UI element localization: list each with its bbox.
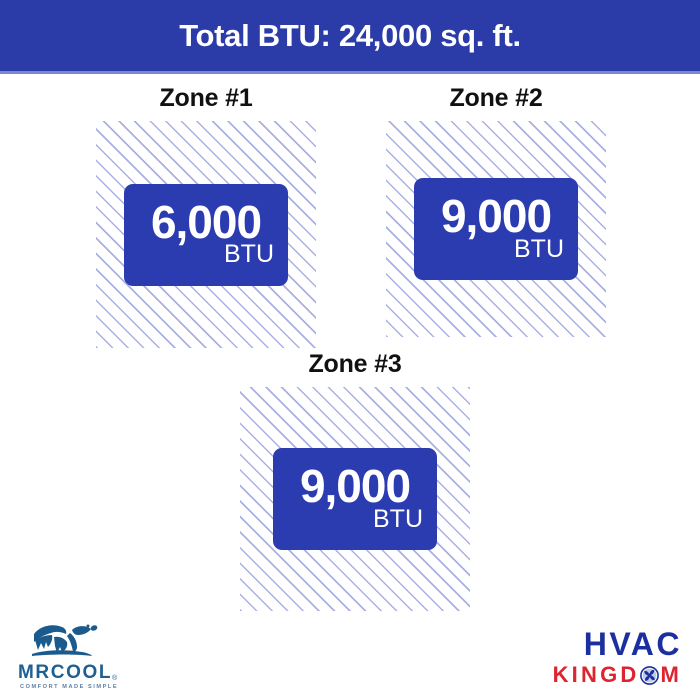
polar-bear-icon <box>26 620 108 664</box>
btu-value-1: 6,000 <box>136 200 276 245</box>
zone-card-1: Zone #1 6,000 BTU <box>96 86 316 348</box>
btu-value-2: 9,000 <box>426 194 566 239</box>
btu-unit-1: BTU <box>224 242 276 267</box>
zones-container: Zone #1 6,000 BTU Zone #2 9,000 BTU Zone… <box>0 74 700 624</box>
btu-zone-infographic: Total BTU: 24,000 sq. ft. Zone #1 6,000 … <box>0 0 700 700</box>
mrcool-logo: MRCOOL® COMFORT MADE SIMPLE <box>18 620 158 696</box>
zone-title-2: Zone #2 <box>386 86 606 111</box>
header-banner: Total BTU: 24,000 sq. ft. <box>0 0 700 71</box>
page-title: Total BTU: 24,000 sq. ft. <box>179 18 521 54</box>
btu-unit-2: BTU <box>514 237 566 262</box>
btu-unit-3: BTU <box>373 507 425 532</box>
kingdom-text-before: KINGD <box>553 664 640 686</box>
zone-card-3: Zone #3 9,000 BTU <box>240 352 470 611</box>
fan-icon <box>640 666 659 685</box>
btu-value-3: 9,000 <box>285 464 425 509</box>
kingdom-wordmark: KINGD M <box>507 664 682 686</box>
zone-hatch-area-3: 9,000 BTU <box>240 387 470 611</box>
zone-hatch-area-2: 9,000 BTU <box>386 121 606 337</box>
mrcool-wordmark-container: MRCOOL® <box>18 666 150 682</box>
mrcool-tagline: COMFORT MADE SIMPLE <box>20 684 118 690</box>
mrcool-wordmark: MRCOOL <box>18 663 112 682</box>
zone-title-1: Zone #1 <box>96 86 316 111</box>
registered-mark: ® <box>112 675 117 682</box>
hvac-wordmark: HVAC <box>507 628 682 660</box>
zone-card-2: Zone #2 9,000 BTU <box>386 86 606 337</box>
btu-badge-2: 9,000 BTU <box>414 178 578 280</box>
kingdom-text-after: M <box>660 664 682 686</box>
btu-badge-1: 6,000 BTU <box>124 184 288 286</box>
zone-hatch-area-1: 6,000 BTU <box>96 121 316 348</box>
zone-title-3: Zone #3 <box>240 352 470 377</box>
hvac-kingdom-logo: HVAC KINGD <box>507 628 682 690</box>
btu-badge-3: 9,000 BTU <box>273 448 437 550</box>
footer: MRCOOL® COMFORT MADE SIMPLE HVAC KINGD <box>0 612 700 700</box>
